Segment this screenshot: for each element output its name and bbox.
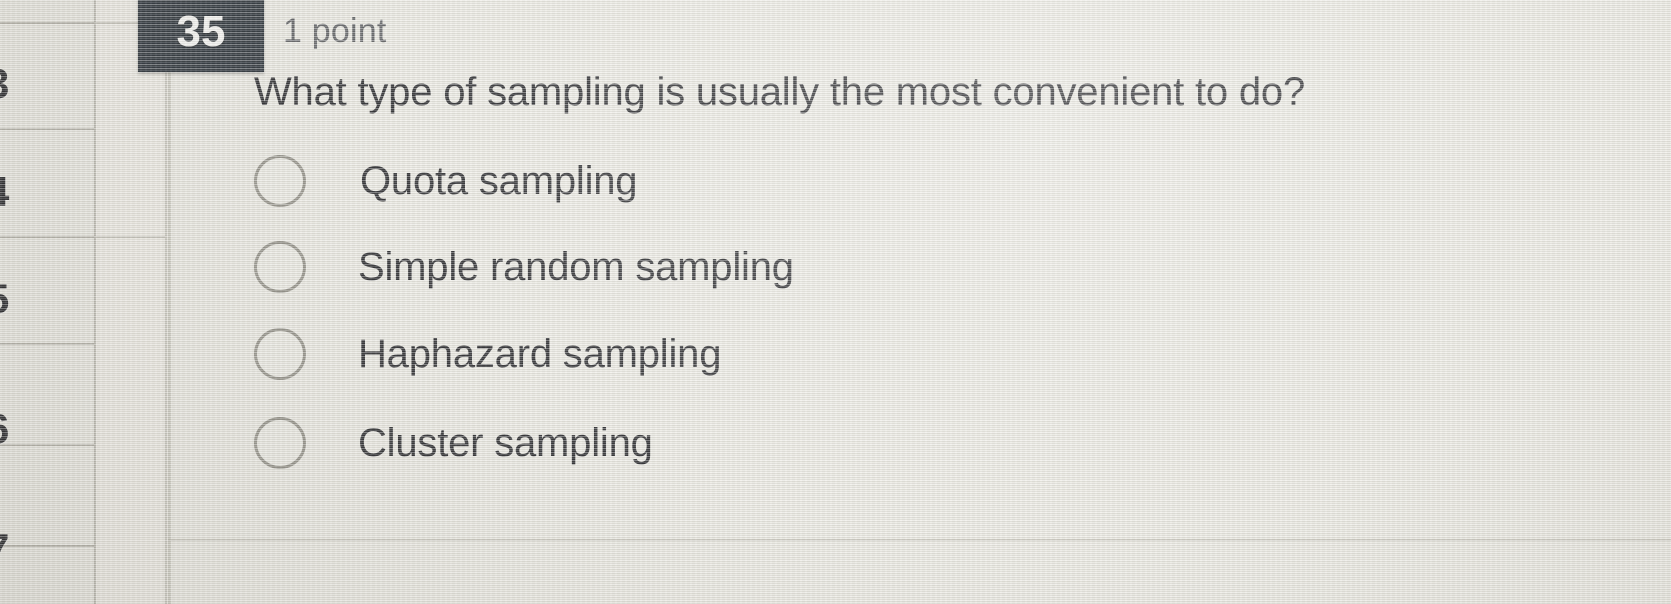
question-card-edge xyxy=(168,0,171,604)
answer-option-2[interactable]: Haphazard sampling xyxy=(254,325,721,383)
row-number: 5 xyxy=(0,275,81,323)
question-number-badge: 35 xyxy=(138,0,264,72)
row-number-gutter: 3 4 5 6 7 xyxy=(0,0,168,604)
question-card-left-border xyxy=(165,0,167,604)
answer-option-1[interactable]: Simple random sampling xyxy=(254,238,794,296)
answer-option-label[interactable]: Simple random sampling xyxy=(358,245,794,290)
answer-option-label[interactable]: Haphazard sampling xyxy=(358,332,721,377)
answer-option-0[interactable]: Quota sampling xyxy=(254,152,637,210)
gutter-grid-line xyxy=(0,236,95,238)
answer-option-label[interactable]: Cluster sampling xyxy=(358,421,653,466)
gutter-grid-line xyxy=(0,22,95,24)
row-number: 7 xyxy=(0,525,81,573)
question-panel: What type of sampling is usually the mos… xyxy=(168,0,1671,604)
gutter-grid-line-b xyxy=(95,236,167,238)
answer-option-label[interactable]: Quota sampling xyxy=(360,159,637,204)
question-card-bottom-separator xyxy=(168,539,1671,541)
radio-button-icon[interactable] xyxy=(254,241,306,293)
row-number: 3 xyxy=(0,60,81,108)
row-number: 4 xyxy=(0,168,81,216)
radio-button-icon[interactable] xyxy=(254,328,306,380)
row-number: 6 xyxy=(0,405,81,453)
question-prompt: What type of sampling is usually the mos… xyxy=(254,70,1305,115)
gutter-vertical-divider xyxy=(94,0,96,604)
question-number: 35 xyxy=(177,10,226,58)
gutter-grid-line xyxy=(0,128,95,130)
radio-button-icon[interactable] xyxy=(254,417,306,469)
quiz-screenshot: 3 4 5 6 7 35 1 point What type of sampli… xyxy=(0,0,1671,604)
gutter-column-secondary xyxy=(95,0,168,604)
radio-button-icon[interactable] xyxy=(254,155,306,207)
question-points-label: 1 point xyxy=(283,12,386,51)
gutter-grid-line xyxy=(0,343,95,345)
answer-option-3[interactable]: Cluster sampling xyxy=(254,414,653,472)
